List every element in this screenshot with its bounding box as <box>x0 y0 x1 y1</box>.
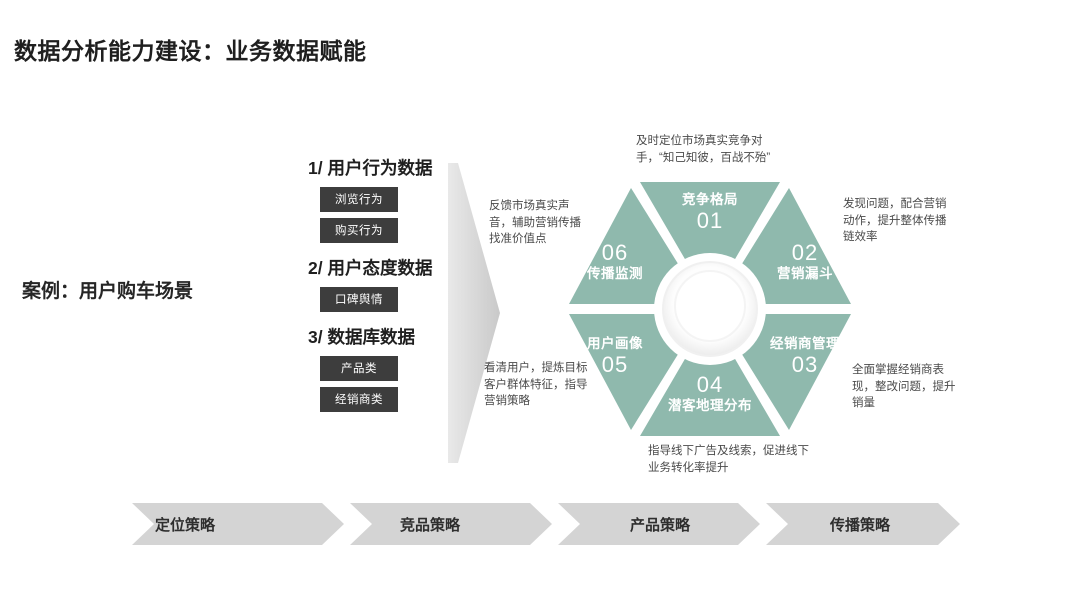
category-tag[interactable]: 经销商类 <box>320 387 398 412</box>
wheel-note-05: 看清用户，提炼目标客户群体特征，指导营销策略 <box>484 360 588 410</box>
hexagon-wheel-diagram: 竞争格局 01 02 营销漏斗 经销商管理 03 04 潜客地理分布 用户画像 … <box>565 178 855 440</box>
category-tag[interactable]: 购买行为 <box>320 218 398 243</box>
process-step-label-3[interactable]: 产品策略 <box>600 514 720 535</box>
wheel-note-03: 全面掌握经销商表现，整改问题，提升销量 <box>852 362 958 412</box>
process-step-label-2[interactable]: 竞品策略 <box>370 514 490 535</box>
wheel-note-06: 反馈市场真实声音，辅助营销传播找准价值点 <box>489 198 589 248</box>
process-step-label-1[interactable]: 定位策略 <box>125 514 245 535</box>
wheel-note-04: 指导线下广告及线索，促进线下业务转化率提升 <box>648 443 814 476</box>
category-tag[interactable]: 口碑舆情 <box>320 287 398 312</box>
category-tag[interactable]: 产品类 <box>320 356 398 381</box>
category-tag[interactable]: 浏览行为 <box>320 187 398 212</box>
wheel-note-02: 发现问题，配合营销动作，提升整体传播链效率 <box>843 196 953 246</box>
wheel-hub-inner <box>675 271 745 341</box>
wheel-svg <box>565 178 855 440</box>
process-step-label-4[interactable]: 传播策略 <box>800 514 920 535</box>
case-study-label: 案例：用户购车场景 <box>22 276 193 303</box>
page-title: 数据分析能力建设：业务数据赋能 <box>14 32 367 66</box>
wheel-note-01: 及时定位市场真实竞争对手，“知己知彼，百战不殆” <box>636 133 784 166</box>
